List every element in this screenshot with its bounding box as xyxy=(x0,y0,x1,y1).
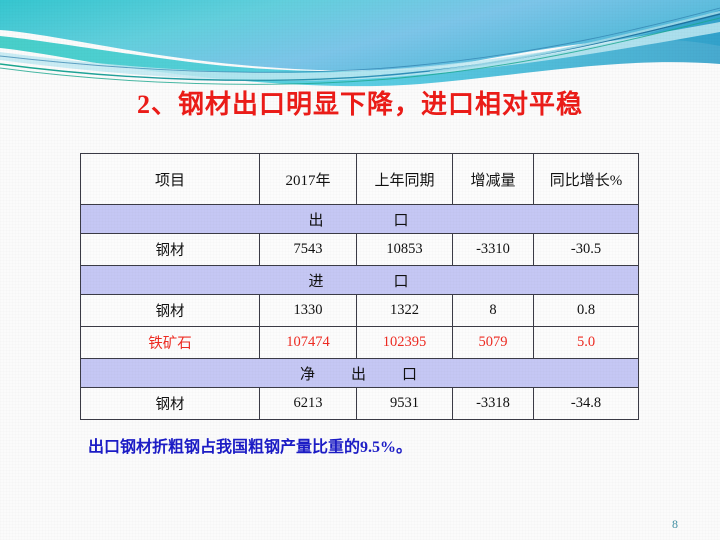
section-word-2: 口 xyxy=(394,213,411,229)
cell-growth: 0.8 xyxy=(534,295,639,327)
trade-statistics-table: 项目 2017年 上年同期 增减量 同比增长% 出口 钢材 7543 10853… xyxy=(80,153,638,420)
column-header-current: 2017年 xyxy=(260,154,357,205)
cell-change: 5079 xyxy=(453,327,534,359)
footnote-text: 出口钢材折粗钢占我国粗钢产量比重的9.5%。 xyxy=(88,433,412,457)
cell-growth: -34.8 xyxy=(534,388,639,420)
cell-current: 107474 xyxy=(260,327,357,359)
cell-change: 8 xyxy=(453,295,534,327)
column-header-prior: 上年同期 xyxy=(357,154,453,205)
table-header-row: 项目 2017年 上年同期 增减量 同比增长% xyxy=(81,154,639,205)
cell-prior: 9531 xyxy=(357,388,453,420)
section-label-import: 进口 xyxy=(81,266,639,295)
section-word-1: 净 xyxy=(300,367,317,383)
column-header-growth-rate: 同比增长% xyxy=(534,154,639,205)
cell-current: 7543 xyxy=(260,234,357,266)
table-row: 钢材 6213 9531 -3318 -34.8 xyxy=(81,388,639,420)
page-title: 2、钢材出口明显下降，进口相对平稳 xyxy=(0,84,720,121)
cell-item: 钢材 xyxy=(81,388,260,420)
cell-change: -3310 xyxy=(453,234,534,266)
cell-item: 钢材 xyxy=(81,295,260,327)
section-label-export: 出口 xyxy=(81,205,639,234)
section-row-net-export: 净出口 xyxy=(81,359,639,388)
cell-prior: 1322 xyxy=(357,295,453,327)
presentation-slide: 2、钢材出口明显下降，进口相对平稳 项目 2017年 上年同期 增减量 同比增长… xyxy=(0,0,720,540)
cell-growth: 5.0 xyxy=(534,327,639,359)
cell-item: 钢材 xyxy=(81,234,260,266)
section-row-export: 出口 xyxy=(81,205,639,234)
cell-current: 6213 xyxy=(260,388,357,420)
cell-current: 1330 xyxy=(260,295,357,327)
section-row-import: 进口 xyxy=(81,266,639,295)
cell-prior: 10853 xyxy=(357,234,453,266)
section-label-net-export: 净出口 xyxy=(81,359,639,388)
slide-page-number: 8 xyxy=(672,517,678,532)
table-row-highlighted: 铁矿石 107474 102395 5079 5.0 xyxy=(81,327,639,359)
cell-item: 铁矿石 xyxy=(81,327,260,359)
column-header-item: 项目 xyxy=(81,154,260,205)
wave-banner-graphic xyxy=(0,0,720,88)
table-row: 钢材 1330 1322 8 0.8 xyxy=(81,295,639,327)
cell-growth: -30.5 xyxy=(534,234,639,266)
cell-prior: 102395 xyxy=(357,327,453,359)
section-word-1: 出 xyxy=(308,213,325,229)
cell-change: -3318 xyxy=(453,388,534,420)
table-row: 钢材 7543 10853 -3310 -30.5 xyxy=(81,234,639,266)
section-word-2: 口 xyxy=(394,274,411,290)
section-word-1: 进 xyxy=(308,274,325,290)
column-header-change: 增减量 xyxy=(453,154,534,205)
section-word-3: 口 xyxy=(402,367,419,383)
section-word-2: 出 xyxy=(351,367,368,383)
